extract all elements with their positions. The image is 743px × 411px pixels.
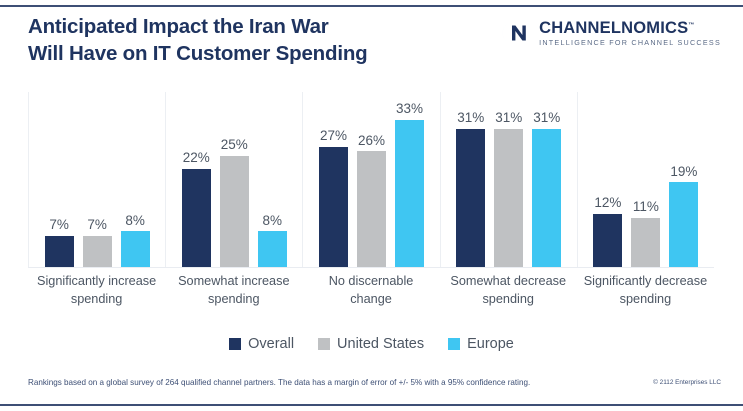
x-axis-labels: Significantly increase spendingSomewhat … xyxy=(28,272,714,308)
bar-group-bars: 12%11%19% xyxy=(578,92,714,267)
bar-group: 27%26%33% xyxy=(303,92,440,267)
bar-rect[interactable] xyxy=(121,231,150,267)
logo-word-text: CHANNELNOMICS xyxy=(539,19,688,37)
bar-group-bars: 27%26%33% xyxy=(303,92,439,267)
x-axis-label: Significantly increase spending xyxy=(28,272,165,308)
bar-item[interactable]: 7% xyxy=(83,92,112,267)
bar-groups: 7%7%8%22%25%8%27%26%33%31%31%31%12%11%19… xyxy=(28,92,714,267)
x-axis-label: No discernable change xyxy=(302,272,439,308)
bar-value-label: 33% xyxy=(396,102,423,116)
bar-item[interactable]: 22% xyxy=(182,92,211,267)
bar-value-label: 26% xyxy=(358,134,385,148)
legend-item[interactable]: Overall xyxy=(229,337,294,352)
logo-text: CHANNELNOMICS™ INTELLIGENCE FOR CHANNEL … xyxy=(539,20,721,47)
bar-group: 31%31%31% xyxy=(441,92,578,267)
legend-swatch-icon xyxy=(229,338,241,350)
bar-value-label: 7% xyxy=(49,218,69,232)
bar-rect[interactable] xyxy=(83,236,112,267)
bar-item[interactable]: 7% xyxy=(45,92,74,267)
bar-value-label: 22% xyxy=(183,151,210,165)
bar-value-label: 31% xyxy=(457,111,484,125)
footnote-text: Rankings based on a global survey of 264… xyxy=(28,378,530,388)
bar-rect[interactable] xyxy=(494,129,523,267)
bar-rect[interactable] xyxy=(532,129,561,267)
bar-rect[interactable] xyxy=(319,147,348,267)
logo-mark-icon xyxy=(497,18,531,48)
legend-swatch-icon xyxy=(448,338,460,350)
bar-rect[interactable] xyxy=(220,156,249,267)
chart-legend: OverallUnited StatesEurope xyxy=(0,337,743,352)
channelnomics-logo: CHANNELNOMICS™ INTELLIGENCE FOR CHANNEL … xyxy=(497,18,721,48)
bar-value-label: 7% xyxy=(87,218,107,232)
bar-item[interactable]: 26% xyxy=(357,92,386,267)
bar-value-label: 8% xyxy=(125,214,145,228)
bar-value-label: 12% xyxy=(594,196,621,210)
bar-item[interactable]: 8% xyxy=(258,92,287,267)
bar-item[interactable]: 31% xyxy=(494,92,523,267)
bar-rect[interactable] xyxy=(357,151,386,267)
top-divider xyxy=(0,5,743,7)
x-axis-label: Somewhat decrease spending xyxy=(440,272,577,308)
bar-item[interactable]: 12% xyxy=(593,92,622,267)
page-title: Anticipated Impact the Iran War Will Hav… xyxy=(28,13,498,67)
bar-group-bars: 22%25%8% xyxy=(166,92,302,267)
bar-value-label: 8% xyxy=(263,214,283,228)
bar-value-label: 25% xyxy=(221,138,248,152)
legend-label: Overall xyxy=(248,337,294,352)
bar-item[interactable]: 31% xyxy=(532,92,561,267)
bar-group-bars: 31%31%31% xyxy=(441,92,577,267)
bar-chart-plot-area: 7%7%8%22%25%8%27%26%33%31%31%31%12%11%19… xyxy=(28,92,714,268)
bar-rect[interactable] xyxy=(182,169,211,267)
bar-rect[interactable] xyxy=(395,120,424,267)
bar-item[interactable]: 25% xyxy=(220,92,249,267)
bottom-divider xyxy=(0,404,743,406)
x-axis-label: Somewhat increase spending xyxy=(165,272,302,308)
legend-label: United States xyxy=(337,337,424,352)
bar-value-label: 31% xyxy=(495,111,522,125)
bar-value-label: 11% xyxy=(633,200,659,214)
logo-tagline: INTELLIGENCE FOR CHANNEL SUCCESS xyxy=(539,39,721,46)
bar-value-label: 27% xyxy=(320,129,347,143)
x-axis-label: Significantly decrease spending xyxy=(577,272,714,308)
bar-item[interactable]: 8% xyxy=(121,92,150,267)
chart-page: Anticipated Impact the Iran War Will Hav… xyxy=(0,0,743,411)
bar-item[interactable]: 11% xyxy=(631,92,660,267)
legend-item[interactable]: Europe xyxy=(448,337,514,352)
bar-group: 7%7%8% xyxy=(28,92,166,267)
bar-item[interactable]: 31% xyxy=(456,92,485,267)
bar-rect[interactable] xyxy=(258,231,287,267)
bar-item[interactable]: 27% xyxy=(319,92,348,267)
bar-item[interactable]: 33% xyxy=(395,92,424,267)
bar-rect[interactable] xyxy=(45,236,74,267)
bar-rect[interactable] xyxy=(593,214,622,267)
bar-item[interactable]: 19% xyxy=(669,92,698,267)
bar-group: 22%25%8% xyxy=(166,92,303,267)
legend-item[interactable]: United States xyxy=(318,337,424,352)
logo-trademark: ™ xyxy=(688,22,694,28)
bar-group-bars: 7%7%8% xyxy=(29,92,165,267)
bar-rect[interactable] xyxy=(456,129,485,267)
legend-swatch-icon xyxy=(318,338,330,350)
page-header: Anticipated Impact the Iran War Will Hav… xyxy=(0,10,743,68)
bar-rect[interactable] xyxy=(631,218,660,267)
bar-value-label: 19% xyxy=(670,165,697,179)
legend-label: Europe xyxy=(467,337,514,352)
logo-wordmark: CHANNELNOMICS™ xyxy=(539,20,721,37)
bar-group: 12%11%19% xyxy=(578,92,714,267)
bar-value-label: 31% xyxy=(533,111,560,125)
bar-rect[interactable] xyxy=(669,182,698,267)
copyright-text: © 2112 Enterprises LLC xyxy=(653,379,721,387)
